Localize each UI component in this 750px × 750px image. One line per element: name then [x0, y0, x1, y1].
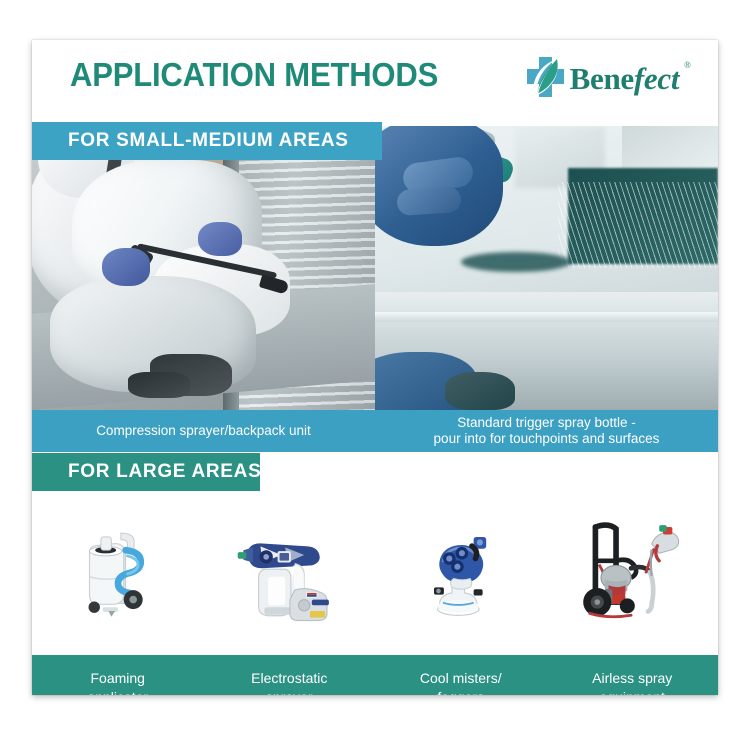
page-title: APPLICATION METHODS: [70, 56, 438, 94]
label-electrostatic-line2: sprayer: [266, 689, 313, 695]
product-image-electrostatic-sprayer: [204, 491, 376, 655]
product-image-foaming-applicator: [32, 491, 204, 655]
photo2-background-object: [461, 252, 571, 272]
banner-large-areas-label: FOR LARGE AREAS: [68, 461, 261, 483]
product-image-row: [32, 491, 718, 655]
label-mister-line1: Cool misters/: [420, 670, 502, 686]
product-label-bar: Foaming applicator Electrostatic sprayer…: [32, 655, 718, 695]
banner-small-medium-areas: FOR SMALL-MEDIUM AREAS: [32, 122, 382, 160]
product-label-cool-mister-fogger: Cool misters/ foggers: [375, 655, 547, 695]
photo-trigger-spray-bottle: [375, 126, 718, 410]
product-image-cool-mister-fogger: [375, 491, 547, 655]
brand-name-part1: Bene: [570, 61, 634, 96]
photo2-cleaning-cloth: [445, 372, 515, 410]
product-image-airless-spray-equipment: [547, 491, 719, 655]
photo-strip: [32, 126, 718, 410]
photo-caption-bar: Compression sprayer/backpack unit Standa…: [32, 410, 718, 452]
caption-trigger-spray-bottle: Standard trigger spray bottle - pour int…: [375, 410, 718, 452]
photo-compression-sprayer: [32, 126, 375, 410]
caption-compression-sprayer-text: Compression sprayer/backpack unit: [96, 423, 311, 439]
banner-small-medium-label: FOR SMALL-MEDIUM AREAS: [68, 130, 349, 152]
benefect-leaf-cross-logo-icon: [524, 55, 566, 99]
product-label-foaming-applicator: Foaming applicator: [32, 655, 204, 695]
photo1-boot-secondary: [128, 372, 190, 398]
application-methods-card: APPLICATION METHODS Benefect ® FOR SMALL…: [32, 40, 718, 695]
poster-stage: APPLICATION METHODS Benefect ® FOR SMALL…: [0, 0, 750, 750]
product-label-electrostatic-sprayer: Electrostatic sprayer: [204, 655, 376, 695]
photo2-spray-mist: [558, 182, 718, 268]
brand-name-part2: fect: [634, 61, 679, 96]
label-electrostatic-line1: Electrostatic: [251, 670, 327, 686]
photo1-blue-glove-left: [102, 248, 150, 286]
label-airless-line2: equipment: [600, 689, 665, 695]
label-airless-line1: Airless spray: [592, 670, 672, 686]
photo1-blue-glove-right: [198, 222, 242, 256]
caption-trigger-line2: pour into for touchpoints and surfaces: [434, 431, 660, 446]
photo2-counter-edge: [375, 312, 718, 322]
caption-compression-sprayer: Compression sprayer/backpack unit: [32, 410, 375, 452]
photo2-glove-finger-secondary: [396, 186, 462, 216]
label-foaming-line1: Foaming: [91, 670, 145, 686]
brand-name: Benefect: [570, 63, 680, 94]
caption-trigger-line1: Standard trigger spray bottle -: [457, 415, 636, 430]
brand-lockup: Benefect ®: [524, 54, 690, 100]
product-label-airless-spray-equipment: Airless spray equipment: [547, 655, 719, 695]
label-mister-line2: foggers: [437, 689, 484, 695]
label-foaming-line2: applicator: [87, 689, 148, 695]
brand-trademark: ®: [684, 60, 691, 70]
banner-large-areas: FOR LARGE AREAS: [32, 453, 260, 491]
card-header: APPLICATION METHODS Benefect ®: [32, 40, 718, 118]
